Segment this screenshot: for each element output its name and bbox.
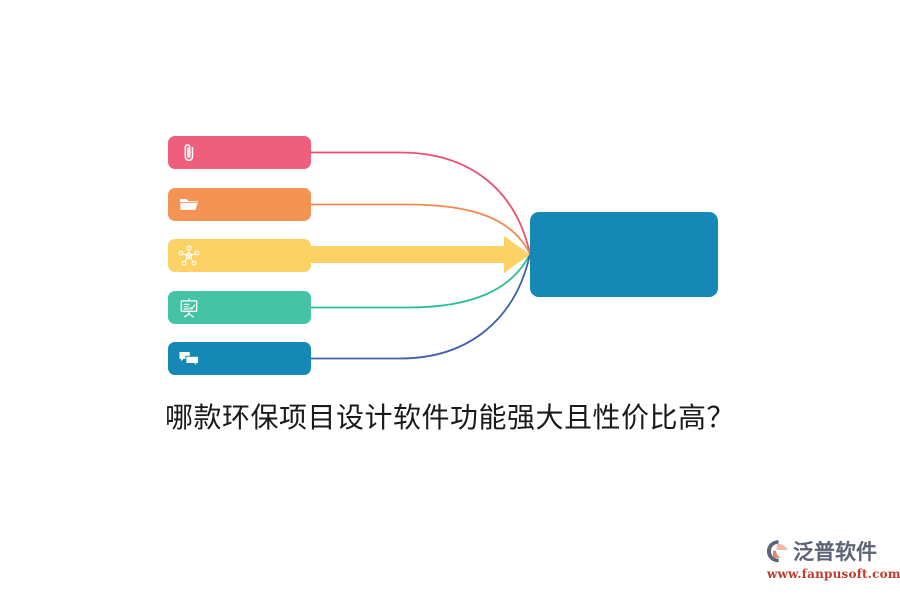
brand-watermark: 泛普软件 www.fanpusoft.com [765,536,890,586]
paperclip-icon [178,142,200,164]
node-presentation[interactable] [168,291,311,324]
page-headline: 哪款环保项目设计软件功能强大且性价比高？ [0,398,900,438]
diagram-canvas: 哪款环保项目设计软件功能强大且性价比高？ 泛普软件 www.fanpusoft.… [0,0,900,600]
connector-network-arrow [300,236,530,273]
brand-row: 泛普软件 [765,536,890,566]
brand-name: 泛普软件 [793,536,877,566]
network-hub-icon [178,245,200,267]
node-attachment[interactable] [168,136,311,169]
target-box[interactable] [530,212,718,297]
brand-url: www.fanpusoft.com [767,567,890,581]
presentation-board-icon [178,297,200,319]
connector-attachment [307,153,530,255]
folder-icon [178,194,200,216]
connector-layer [0,0,900,600]
node-network[interactable] [168,239,311,272]
node-chat[interactable] [168,342,311,375]
connector-chat [307,254,530,359]
chat-bubbles-icon [178,348,200,370]
node-folder[interactable] [168,188,311,221]
fanpu-logo-icon [765,538,791,564]
